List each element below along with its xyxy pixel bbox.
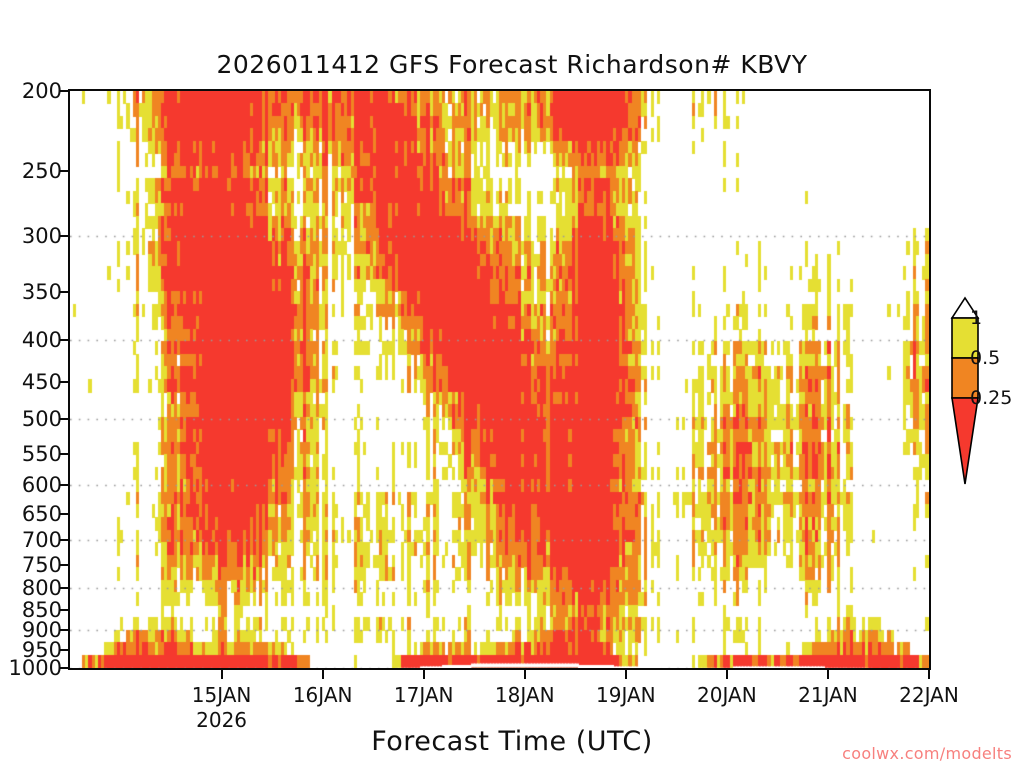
x-tick-mark — [524, 670, 526, 679]
y-tick-label: 450 — [22, 370, 62, 394]
y-tick-label: 700 — [22, 528, 62, 552]
y-tick-mark — [60, 418, 69, 420]
y-tick-label: 300 — [22, 224, 62, 248]
y-tick-mark — [60, 667, 69, 669]
y-tick-mark — [60, 564, 69, 566]
y-tick-label: 200 — [22, 79, 62, 103]
x-tick-mark — [625, 670, 627, 679]
x-tick-label: 19JAN — [596, 683, 656, 707]
chart-root: 2026011412 GFS Forecast Richardson# KBVY… — [0, 0, 1024, 768]
y-tick-label: 250 — [22, 159, 62, 183]
y-tick-mark — [60, 381, 69, 383]
y-tick-label: 600 — [22, 473, 62, 497]
y-tick-mark — [60, 235, 69, 237]
y-tick-mark — [60, 484, 69, 486]
y-tick-label: 750 — [22, 553, 62, 577]
x-tick-label: 21JAN — [798, 683, 858, 707]
chart-title: 2026011412 GFS Forecast Richardson# KBVY — [0, 50, 1024, 79]
y-tick-label: 800 — [22, 576, 62, 600]
x-tick-label: 22JAN — [899, 683, 959, 707]
colorbar-tick-label: 0.5 — [970, 347, 1000, 369]
x-tick-label: 18JAN — [495, 683, 555, 707]
colorbar-under-arrow — [952, 398, 978, 484]
x-tick-label: 15JAN — [192, 683, 252, 707]
x-tick-mark — [827, 670, 829, 679]
watermark: coolwx.com/modelts — [842, 744, 1012, 763]
y-tick-label: 550 — [22, 442, 62, 466]
plot-area — [68, 89, 931, 670]
y-tick-label: 500 — [22, 407, 62, 431]
y-tick-mark — [60, 539, 69, 541]
y-tick-mark — [60, 90, 69, 92]
y-tick-label: 400 — [22, 328, 62, 352]
colorbar-tick-label: 0.25 — [970, 387, 1012, 409]
y-tick-mark — [60, 453, 69, 455]
x-tick-mark — [423, 670, 425, 679]
x-tick-mark — [928, 670, 930, 679]
y-tick-mark — [60, 339, 69, 341]
x-tick-mark — [322, 670, 324, 679]
x-tick-mark — [221, 670, 223, 679]
y-tick-label: 650 — [22, 502, 62, 526]
x-tick-label: 17JAN — [394, 683, 454, 707]
y-tick-mark — [60, 170, 69, 172]
y-tick-label: 350 — [22, 280, 62, 304]
y-tick-mark — [60, 629, 69, 631]
y-tick-mark — [60, 587, 69, 589]
y-tick-mark — [60, 609, 69, 611]
colorbar-tick-label: 1 — [970, 307, 982, 329]
x-tick-label: 16JAN — [293, 683, 353, 707]
y-axis: 2002503003504004505005506006507007508008… — [0, 0, 62, 768]
richardson-heatmap — [70, 91, 929, 668]
y-tick-mark — [60, 291, 69, 293]
x-tick-label: 20JAN — [697, 683, 757, 707]
y-tick-label: 1000 — [9, 656, 62, 680]
x-tick-mark — [726, 670, 728, 679]
colorbar-legend: 10.50.25 — [940, 296, 1020, 486]
y-tick-mark — [60, 649, 69, 651]
y-tick-mark — [60, 513, 69, 515]
